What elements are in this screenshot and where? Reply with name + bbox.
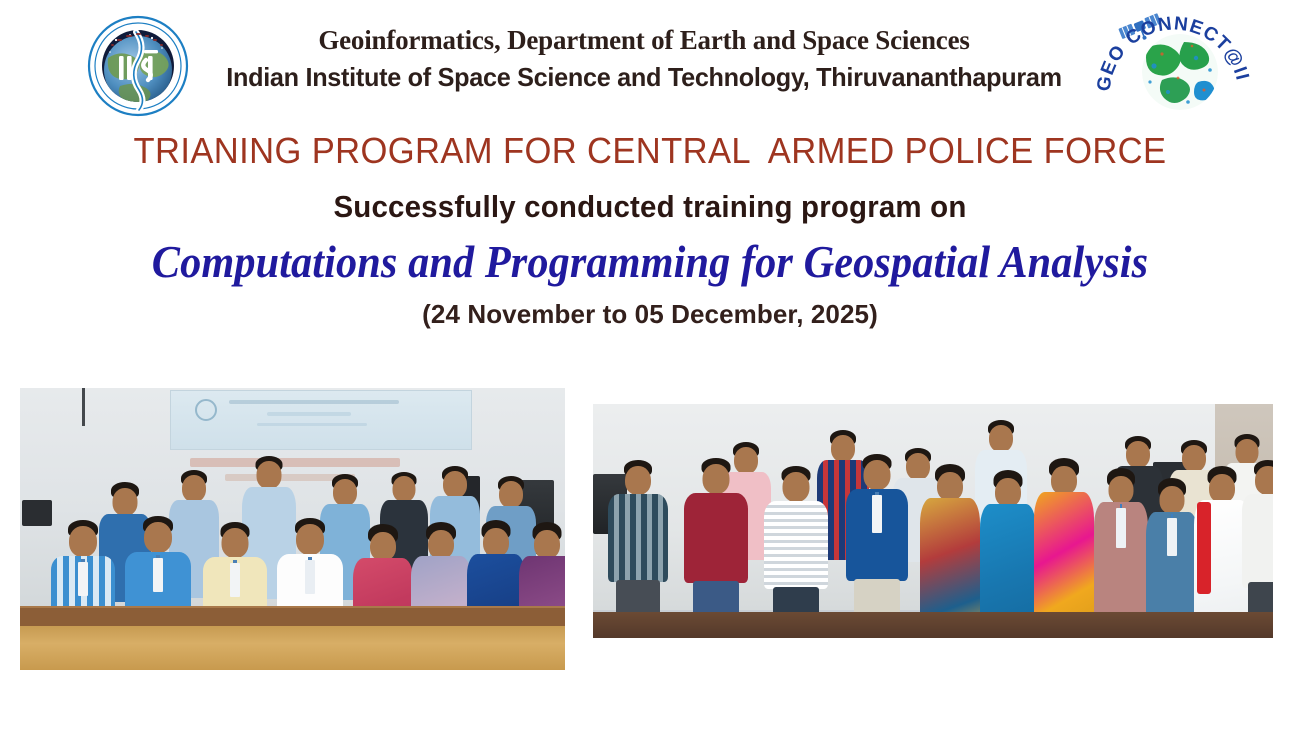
screen-text-line [229, 400, 399, 404]
projection-screen [170, 390, 472, 450]
screen-text-line [257, 423, 367, 426]
group-photo-batch-2 [593, 404, 1273, 638]
stage-step [20, 606, 565, 626]
classroom-floor [593, 612, 1273, 638]
institute-header-text: Geoinformatics, Department of Earth and … [196, 22, 1092, 97]
camera-equipment [22, 500, 52, 526]
photo-scene-auditorium [20, 388, 565, 670]
screen-text-line [267, 412, 351, 416]
dupatta [1197, 502, 1211, 594]
group-photo-batch-1 [20, 388, 565, 670]
person-front-row [683, 458, 749, 638]
microphone-stand [82, 388, 85, 426]
program-dates: (24 November to 05 December, 2025) [0, 298, 1300, 331]
geo-connect-iist-logo: GEO CONNECT@IIST [1092, 8, 1252, 118]
person-front-row [845, 454, 909, 638]
program-subtitle: Successfully conducted training program … [33, 187, 1268, 227]
poster-header: Geoinformatics, Department of Earth and … [0, 0, 1300, 120]
auditorium-floor [20, 626, 565, 670]
poster-titles: TRIANING PROGRAM FOR CENTRAL ARMED POLIC… [0, 128, 1300, 331]
photo-scene-classroom [593, 404, 1273, 638]
program-title: TRIANING PROGRAM FOR CENTRAL ARMED POLIC… [26, 128, 1274, 173]
screen-emblem-icon [195, 399, 217, 421]
person-front-row-saree [1033, 458, 1095, 638]
course-title: Computations and Programming for Geospat… [39, 235, 1261, 290]
department-line: Geoinformatics, Department of Earth and … [196, 22, 1092, 59]
iist-logo [86, 14, 190, 118]
institute-line: Indian Institute of Space Science and Te… [209, 59, 1078, 97]
